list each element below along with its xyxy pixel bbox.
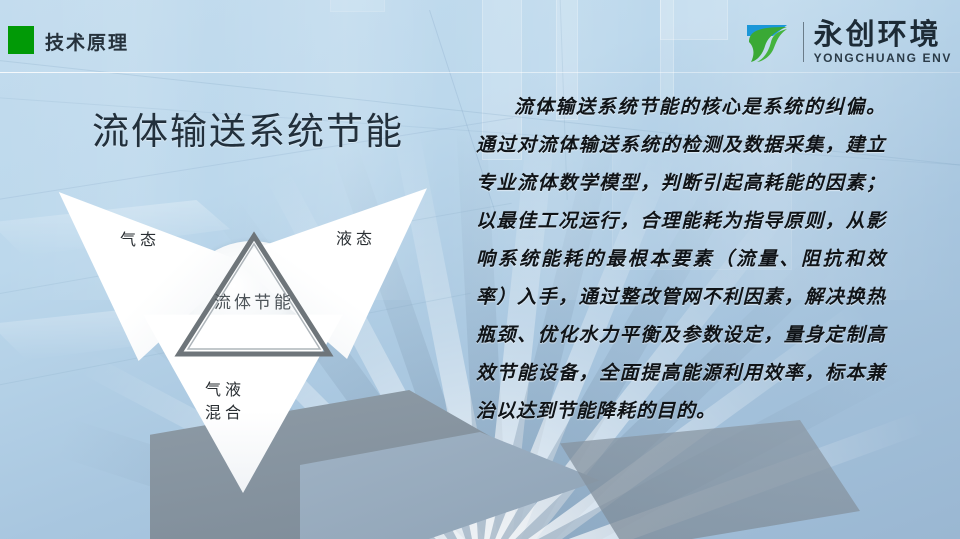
header-divider	[0, 72, 960, 73]
logo-leaf-icon	[743, 20, 795, 64]
logo-wordmark: 永创环境 YONGCHUANG ENV	[814, 20, 952, 64]
slide-header: 技术原理 永创环境 YONGCHUANG ENV	[0, 0, 960, 72]
diagram-label-gas: 气态	[95, 228, 185, 251]
section-title: 技术原理	[45, 28, 129, 55]
logo-divider	[803, 22, 804, 62]
logo-name-en: YONGCHUANG ENV	[814, 52, 952, 64]
diagram-center-label: 流体节能	[173, 288, 335, 313]
company-logo: 永创环境 YONGCHUANG ENV	[743, 18, 952, 66]
section-accent-mark	[8, 26, 34, 54]
diagram-label-mixed: 气液 混合	[195, 378, 255, 424]
logo-name-cn: 永创环境	[814, 20, 952, 49]
diagram-label-liquid: 液态	[311, 227, 401, 250]
page-title: 流体输送系统节能	[92, 101, 404, 155]
slide: 技术原理 永创环境 YONGCHUANG ENV 流体输送系统节能	[0, 0, 960, 539]
fluid-energy-diagram: 流体节能 气态 液态 气液 混合	[55, 183, 445, 493]
body-paragraph: 流体输送系统节能的核心是系统的纠偏。通过对流体输送系统的检测及数据采集，建立专业…	[476, 88, 886, 430]
